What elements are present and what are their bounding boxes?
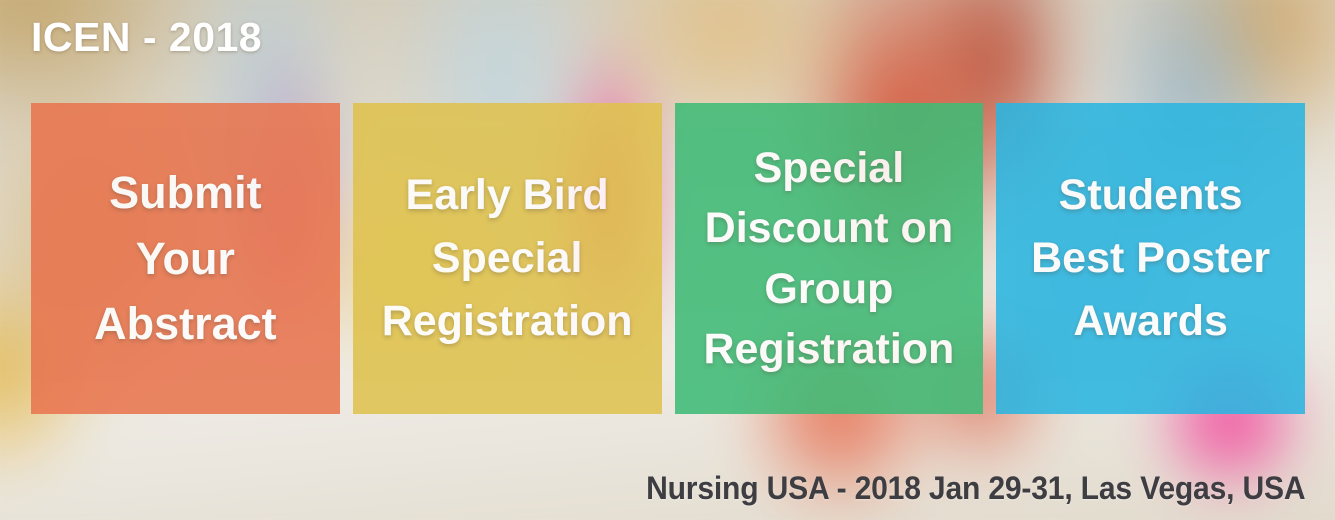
card-text-line: Registration	[703, 319, 954, 379]
promo-card-row: Submit Your Abstract Early Bird Special …	[31, 103, 1305, 414]
card-group-discount[interactable]: Special Discount on Group Registration	[675, 103, 984, 414]
card-student-poster-awards[interactable]: Students Best Poster Awards	[996, 103, 1305, 414]
card-text-line: Special	[754, 138, 905, 198]
card-text-line: Early Bird	[406, 164, 609, 227]
event-details-footer: Nursing USA - 2018 Jan 29-31, Las Vegas,…	[646, 470, 1305, 507]
page-title: ICEN - 2018	[31, 14, 262, 61]
card-text-line: Discount on	[705, 198, 953, 258]
card-text-line: Awards	[1073, 290, 1228, 353]
card-text-line: Abstract	[94, 291, 277, 357]
card-text-line: Group	[764, 259, 893, 319]
card-submit-abstract[interactable]: Submit Your Abstract	[31, 103, 340, 414]
conference-banner: ICEN - 2018 Submit Your Abstract Early B…	[0, 0, 1335, 520]
card-text-line: Best Poster	[1031, 227, 1270, 290]
card-text-line: Registration	[382, 290, 633, 353]
card-early-bird-registration[interactable]: Early Bird Special Registration	[353, 103, 662, 414]
card-text-line: Submit	[109, 160, 262, 226]
card-text-line: Your	[136, 226, 235, 292]
card-text-line: Special	[432, 227, 583, 290]
card-text-line: Students	[1059, 164, 1243, 227]
